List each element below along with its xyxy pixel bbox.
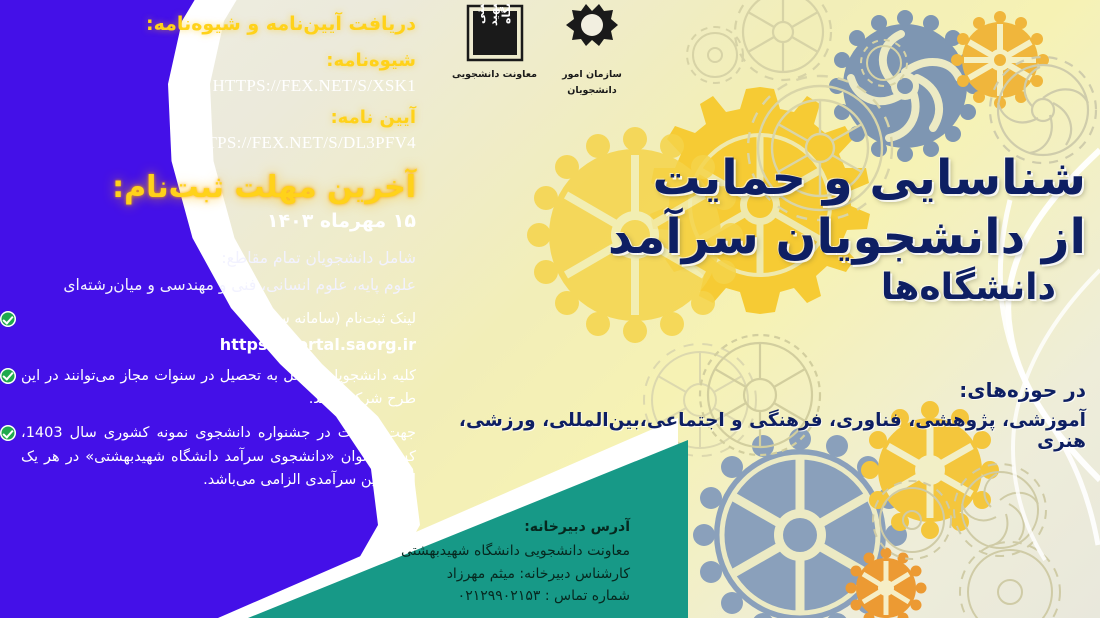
fields-section: در حوزه‌های: آموزشی، پژوهشی، فناوری، فره…	[446, 378, 1086, 452]
gear-icon-outline-tiny-b	[861, 40, 907, 86]
headline-line-2: از دانشجویان سرآمد	[526, 209, 1086, 266]
organization-logo-caption-line1: سازمان امور	[561, 69, 623, 82]
bullet-text: لینک ثبت‌نام (سامانه سجاد):	[21, 308, 416, 331]
svg-text:بهشتی: بهشتی	[474, 4, 487, 24]
method-label: شیوه‌نامه:	[0, 47, 416, 74]
gear-icon-outline-spiral-right	[990, 57, 1096, 163]
fields-title: در حوزه‌های:	[446, 378, 1086, 402]
logo-row: دانشگاه شهید بهشتی معاونت دانشجویی سازما…	[430, 4, 645, 109]
secretariat-block: آدرس دبیرخانه: معاونت دانشجویی دانشگاه ش…	[300, 516, 630, 608]
bullet-text: کلیه دانشجویان شاغل به تحصیل در سنوات مج…	[21, 365, 416, 412]
bullet-eligibility: کلیه دانشجویان شاغل به تحصیل در سنوات مج…	[0, 365, 416, 412]
gear-icon-outline-br-a	[873, 481, 951, 559]
deadline-date: ۱۵ مهرماه ۱۴۰۳	[0, 210, 416, 232]
regulation-url[interactable]: HTTPS://FEX.NET/S/DL3PFV4	[0, 133, 416, 153]
organization-logo-caption-line2: دانشجویان	[561, 85, 623, 98]
gear-icon-outline-upper	[735, 0, 831, 80]
fields-list: آموزشی، پژوهشی، فناوری، فرهنگی و اجتماعی…	[446, 410, 1086, 452]
shahid-beheshti-university-logo: دانشگاه شهید بهشتی معاونت دانشجویی	[452, 4, 537, 82]
bullet-festival-requirement: جهت شرکت در جشنواره دانشجوی نمونه کشوری …	[0, 422, 416, 492]
registration-portal-link[interactable]: https://portal.saorg.ir	[0, 335, 416, 354]
poster-canvas: دانشگاه شهید بهشتی معاونت دانشجویی سازما…	[0, 0, 1100, 618]
secretariat-address: معاونت دانشجویی دانشگاه شهیدبهشتی	[300, 540, 630, 563]
gear-icon-bluegray-spiral	[829, 10, 981, 162]
gear-icon-outline-br-c	[960, 542, 1060, 618]
method-url[interactable]: HTTPS://FEX.NET/S/XSK1	[0, 76, 416, 96]
regulation-label: آیین نامه:	[0, 104, 416, 131]
check-circle-icon	[0, 368, 16, 384]
deadline-title: آخرین مهلت ثبت‌نام:	[0, 169, 416, 207]
secretariat-phone: شماره تماس : ۰۲۱۲۹۹۰۲۱۵۳	[300, 585, 630, 608]
check-circle-icon	[0, 311, 16, 327]
gear-icon-orange-small	[846, 548, 927, 618]
university-seal-icon: دانشگاه شهید بهشتی	[466, 4, 524, 62]
student-affairs-organization-logo: سازمان امور دانشجویان	[561, 4, 623, 98]
poster-headline: شناسایی و حمایت از دانشجویان سرآمد دانشگ…	[526, 150, 1086, 310]
secretariat-expert: کارشناس دبیرخانه: میثم مهرزاد	[300, 563, 630, 586]
bullet-registration-link: لینک ثبت‌نام (سامانه سجاد):	[0, 308, 416, 331]
svg-text:دانشگاه: دانشگاه	[500, 4, 513, 24]
headline-line-3: دانشگاه‌ها	[526, 267, 1086, 309]
bullet-text: جهت شرکت در جشنواره دانشجوی نمونه کشوری …	[21, 422, 416, 492]
includes-line-1: شامل دانشجویان تمام مقاطع:	[0, 246, 416, 270]
gear-icon-bluegray-large	[693, 428, 907, 618]
svg-text:شهید: شهید	[487, 4, 500, 26]
gear-icon-outline-tiny-a	[687, 27, 743, 83]
gear-icon-outline-br-b	[954, 464, 1046, 556]
includes-line-2: علوم پایه، علوم انسانی، فنی و مهندسی و م…	[0, 273, 416, 297]
download-heading: دریافت آیین‌نامه و شیوه‌نامه:	[0, 10, 416, 39]
gear-icon-amber-small	[951, 11, 1049, 109]
university-logo-caption: معاونت دانشجویی	[452, 69, 537, 82]
secretariat-title: آدرس دبیرخانه:	[300, 516, 630, 539]
check-circle-icon	[0, 425, 16, 441]
headline-line-1: شناسایی و حمایت	[526, 150, 1086, 207]
organization-sun-icon	[561, 4, 623, 62]
